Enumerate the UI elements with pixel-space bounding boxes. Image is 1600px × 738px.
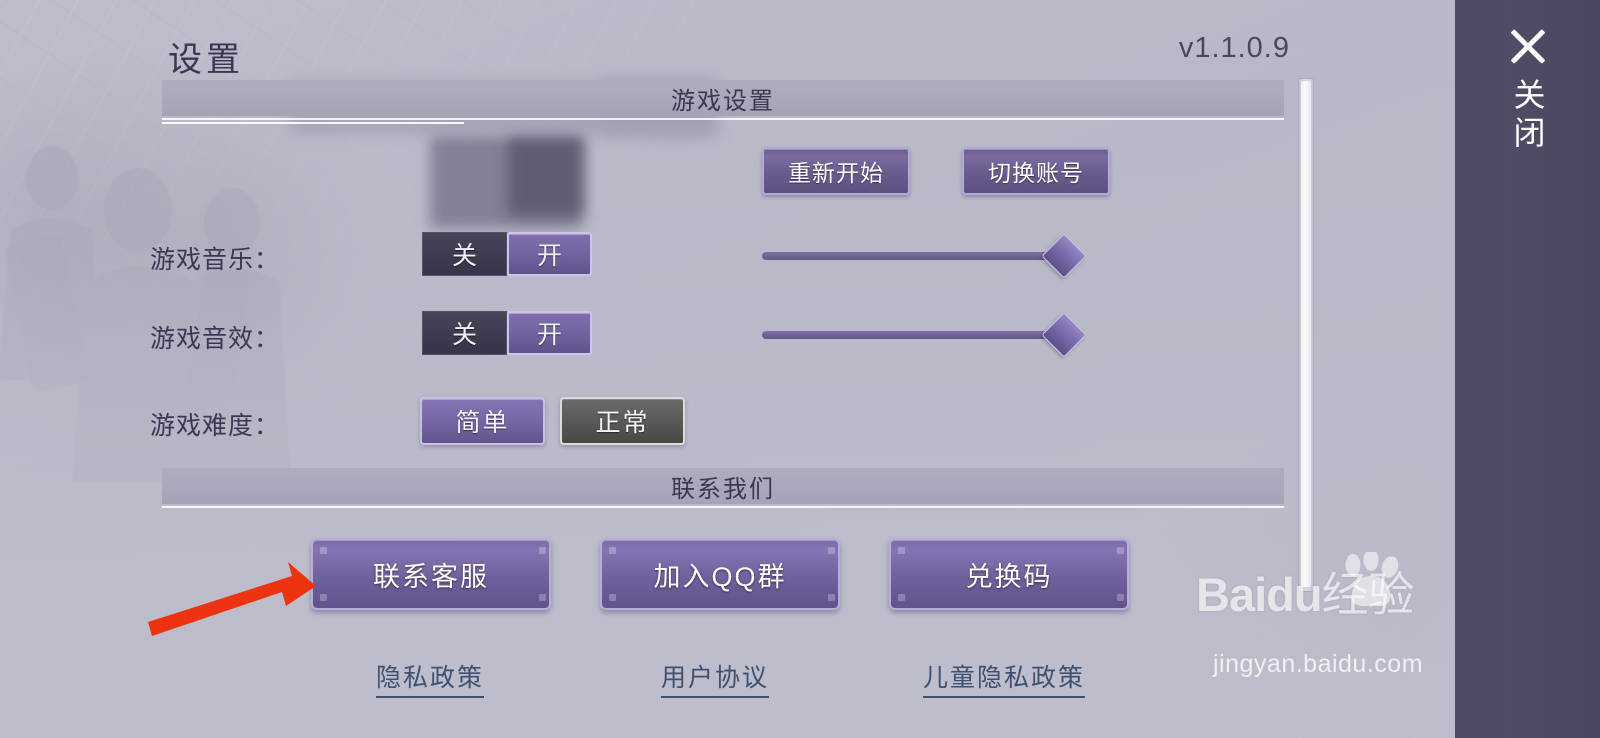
close-x-icon[interactable] [1506,24,1550,68]
join-qq-group-button[interactable]: 加入QQ群 [600,538,840,610]
children-privacy-policy-link[interactable]: 儿童隐私政策 [923,658,1085,698]
section-header-game-settings-label: 游戏设置 [671,81,775,116]
restart-button-label: 重新开始 [788,154,884,188]
section-header-game-settings: 游戏设置 [162,80,1284,116]
game-difficulty-label: 游戏难度： [60,406,280,442]
switch-account-button[interactable]: 切换账号 [962,147,1110,195]
game-sfx-label: 游戏音效： [60,319,280,355]
contact-support-button[interactable]: 联系客服 [311,538,551,610]
switch-account-button-label: 切换账号 [988,154,1084,188]
join-qq-group-button-label: 加入QQ群 [653,555,786,594]
settings-screen: 设置 v1.1.0.9 游戏设置 重新开始 切换账号 游戏音乐： 关 开 游戏音… [0,0,1600,738]
game-music-off-option[interactable]: 关 [422,232,507,276]
section-header-contact-us: 联系我们 [162,468,1284,504]
vertical-scrollbar-thumb[interactable] [1301,81,1311,587]
difficulty-easy-button[interactable]: 简单 [420,397,545,445]
ghost-block-2 [508,136,584,216]
game-music-volume-slider[interactable] [762,240,1082,270]
user-agreement-link[interactable]: 用户协议 [661,658,769,698]
game-music-label: 游戏音乐： [60,240,280,276]
vertical-scrollbar[interactable] [1298,78,1314,592]
version-label: v1.1.0.9 [1179,32,1290,65]
section-rule-game-settings [162,118,1284,120]
close-panel-label: 关闭 [1505,78,1551,154]
contact-support-button-label: 联系客服 [373,555,489,594]
game-sfx-volume-slider[interactable] [762,319,1082,349]
game-music-on-option[interactable]: 开 [507,232,592,276]
privacy-policy-link[interactable]: 隐私政策 [376,658,484,698]
section-header-contact-us-label: 联系我们 [671,469,775,504]
redeem-code-button-label: 兑换码 [966,555,1053,594]
close-panel[interactable]: 关闭 [1455,0,1600,738]
page-title: 设置 [168,32,244,81]
game-sfx-off-option[interactable]: 关 [422,311,507,355]
game-sfx-toggle[interactable]: 关 开 [422,311,592,355]
title-underline [162,122,464,124]
difficulty-normal-button[interactable]: 正常 [560,397,685,445]
restart-button[interactable]: 重新开始 [762,147,910,195]
game-sfx-slider-track[interactable] [762,331,1062,339]
game-music-slider-track[interactable] [762,252,1062,260]
game-sfx-on-option[interactable]: 开 [507,311,592,355]
section-rule-contact-us [162,506,1284,508]
redeem-code-button[interactable]: 兑换码 [889,538,1129,610]
game-music-toggle[interactable]: 关 开 [422,232,592,276]
